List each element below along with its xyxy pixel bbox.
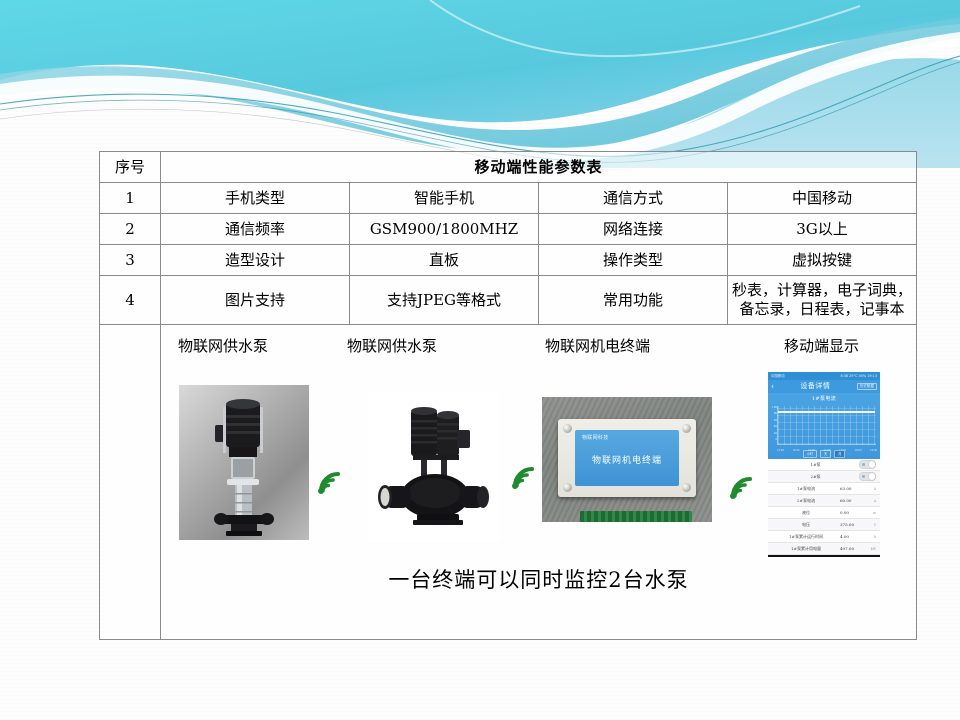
app-nav-bar: ‹ 设备详情 历史数据 xyxy=(768,380,880,393)
list-item-value: 4.00 xyxy=(840,534,866,539)
row-key-2: 网络连接 xyxy=(539,214,728,245)
list-item-value: 497.00 xyxy=(840,546,866,551)
list-item-unit: V xyxy=(866,523,876,527)
terminal-product-text: 物联网机电终端 xyxy=(575,456,679,467)
photo-vertical-pump xyxy=(179,385,309,540)
list-item-unit: A xyxy=(866,487,876,491)
row-index: 3 xyxy=(100,245,161,276)
decorative-ribbon-graphic xyxy=(0,0,960,170)
chart-range-selector: 小时 天 月 xyxy=(768,450,880,459)
list-item[interactable]: 电压 375.00 V xyxy=(768,519,880,531)
table-title-cell: 移动端性能参数表 xyxy=(161,152,917,183)
list-item[interactable]: 1#泵累计用电量 497.00 kW xyxy=(768,543,880,555)
wifi-signal-icon xyxy=(726,472,760,502)
vertical-pump-illustration xyxy=(179,385,309,540)
row-value-2: 3G以上 xyxy=(728,214,917,245)
list-item[interactable]: 1#泵 xyxy=(768,459,880,471)
list-item-label: 液位 xyxy=(772,510,840,515)
terminal-enclosure: 物联网科技 物联网机电终端 xyxy=(558,419,696,497)
row-value-2: 秒表，计算器，电子词典，备忘录，日程表，记事本 xyxy=(728,276,917,325)
pump-2-toggle[interactable] xyxy=(859,472,876,481)
status-indicators: 8:38 29°C 40% 19:13 xyxy=(840,374,877,378)
list-item[interactable]: 2#泵 xyxy=(768,471,880,483)
chart-range-hour[interactable]: 小时 xyxy=(803,450,817,458)
row-key-2: 操作类型 xyxy=(539,245,728,276)
row-index: 4 xyxy=(100,276,161,325)
list-item-value: 63.00 xyxy=(840,486,866,491)
row-key-2: 常用功能 xyxy=(539,276,728,325)
list-item-unit: kW xyxy=(866,547,876,551)
table-header-row: 序号 移动端性能参数表 xyxy=(100,152,917,183)
list-item-unit: h xyxy=(866,535,876,539)
chart-series-line xyxy=(778,411,875,413)
phone-bottom-bar xyxy=(768,555,880,557)
pump-1-toggle[interactable] xyxy=(859,460,876,469)
chart-range-day[interactable]: 天 xyxy=(820,450,831,458)
showcase-cell: 物联网供水泵 物联网供水泵 物联网机电终端 移动端显示 xyxy=(161,325,917,640)
mobile-spec-table: 序号 移动端性能参数表 1 手机类型 智能手机 通信方式 中国移动 2 通信频率… xyxy=(99,151,917,640)
row-index: 2 xyxy=(100,214,161,245)
row-key-1: 造型设计 xyxy=(161,245,350,276)
list-item[interactable]: 液位 0.00 m xyxy=(768,507,880,519)
inline-pump-illustration xyxy=(369,392,499,542)
list-item-unit: m xyxy=(866,511,876,515)
row-key-1: 图片支持 xyxy=(161,276,350,325)
list-item-label: 1#泵累计运行时间 xyxy=(772,534,840,539)
table-row: 1 手机类型 智能手机 通信方式 中国移动 xyxy=(100,183,917,214)
row-key-2: 通信方式 xyxy=(539,183,728,214)
carrier-label: 中国移动 xyxy=(771,374,785,378)
terminal-label-plate: 物联网科技 物联网机电终端 xyxy=(575,430,679,486)
row-key-1: 通信频率 xyxy=(161,214,350,245)
chart-range-month[interactable]: 月 xyxy=(834,450,845,458)
showcase-caption: 一台终端可以同时监控2台水泵 xyxy=(164,567,913,593)
list-item-label: 电压 xyxy=(772,522,840,527)
row-value-1: 智能手机 xyxy=(350,183,539,214)
list-item-unit: A xyxy=(866,499,876,503)
list-item-value: 0.00 xyxy=(840,510,866,515)
chevron-left-icon[interactable]: ‹ xyxy=(771,383,774,391)
list-item-label: 2#泵 xyxy=(772,474,859,479)
terminal-bottom-connector xyxy=(580,511,692,522)
table-row: 2 通信频率 GSM900/1800MHZ 网络连接 3G以上 xyxy=(100,214,917,245)
list-item-value: 375.00 xyxy=(840,522,866,527)
table-row: 4 图片支持 支持JPEG等格式 常用功能 秒表，计算器，电子词典，备忘录，日程… xyxy=(100,276,917,325)
row-value-2: 虚拟按键 xyxy=(728,245,917,276)
photo-label-row: 物联网供水泵 物联网供水泵 物联网机电终端 移动端显示 xyxy=(164,337,913,361)
chart-title: 1#泵电流 xyxy=(768,396,880,402)
list-item-value: 60.00 xyxy=(840,498,866,503)
list-item-label: 1#泵累计用电量 xyxy=(772,546,840,551)
photo-label-pump-1: 物联网供水泵 xyxy=(178,337,268,356)
list-item-label: 1#泵 xyxy=(772,462,859,467)
app-current-chart: 1#泵电流 100 80 60 40 20 0 xyxy=(768,393,880,459)
wifi-signal-icon xyxy=(508,462,542,492)
row-value-1: 支持JPEG等格式 xyxy=(350,276,539,325)
mobile-app-screen: 中国移动 8:38 29°C 40% 19:13 ‹ 设备详情 历史数据 xyxy=(768,372,880,557)
photo-mobile-app-screenshot: 中国移动 8:38 29°C 40% 19:13 ‹ 设备详情 历史数据 xyxy=(768,372,880,557)
photo-label-pump-2: 物联网供水泵 xyxy=(347,337,437,356)
photo-label-terminal: 物联网机电终端 xyxy=(545,337,650,356)
list-item[interactable]: 2#泵电流 60.00 A xyxy=(768,495,880,507)
row-value-1: GSM900/1800MHZ xyxy=(350,214,539,245)
photo-iot-terminal: 物联网科技 物联网机电终端 xyxy=(542,397,712,522)
mobile-spec-table-container: 序号 移动端性能参数表 1 手机类型 智能手机 通信方式 中国移动 2 通信频率… xyxy=(99,151,917,640)
showcase-row: 物联网供水泵 物联网供水泵 物联网机电终端 移动端显示 xyxy=(100,325,917,640)
phone-status-bar: 中国移动 8:38 29°C 40% 19:13 xyxy=(768,372,880,380)
row-value-1: 直板 xyxy=(350,245,539,276)
list-item-label: 1#泵电流 xyxy=(772,486,840,491)
terminal-brand-text: 物联网科技 xyxy=(582,435,609,441)
photo-label-mobile: 移动端显示 xyxy=(784,337,859,356)
y-tick: 0 xyxy=(769,437,777,443)
chart-y-axis-ticks: 100 80 60 40 20 0 xyxy=(769,405,777,443)
wifi-signal-icon xyxy=(314,467,348,497)
list-item[interactable]: 1#泵累计运行时间 4.00 h xyxy=(768,531,880,543)
table-row: 3 造型设计 直板 操作类型 虚拟按键 xyxy=(100,245,917,276)
photo-inline-pump xyxy=(369,392,499,542)
row-key-1: 手机类型 xyxy=(161,183,350,214)
app-page-title: 设备详情 xyxy=(800,382,830,391)
header-index-cell: 序号 xyxy=(100,152,161,183)
list-item-label: 2#泵电流 xyxy=(772,498,840,503)
showcase-spacer-cell xyxy=(100,325,161,640)
list-item[interactable]: 1#泵电流 63.00 A xyxy=(768,483,880,495)
row-index: 1 xyxy=(100,183,161,214)
history-data-button[interactable]: 历史数据 xyxy=(857,383,877,389)
row-value-2: 中国移动 xyxy=(728,183,917,214)
